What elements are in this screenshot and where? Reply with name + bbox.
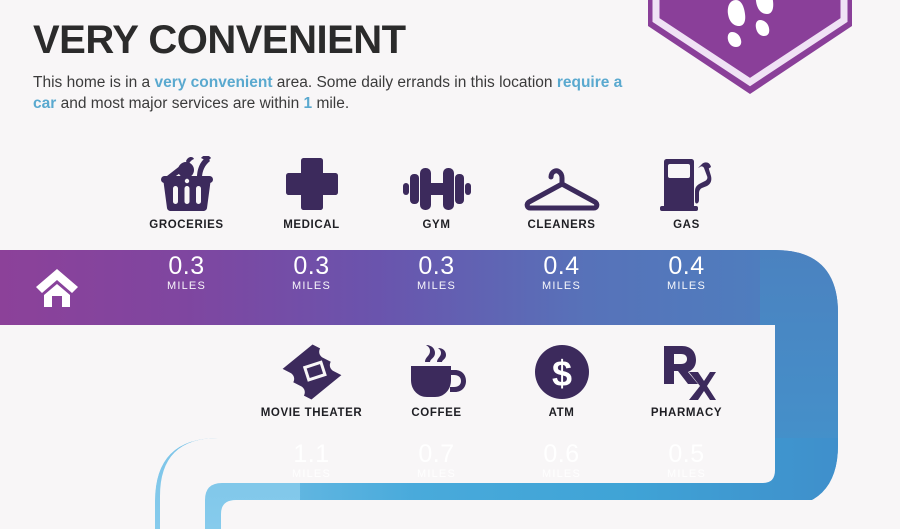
distance-movie-theater: 1.1 MILES: [249, 440, 374, 480]
distance-value: 0.3: [374, 252, 499, 281]
subtitle-seg-6: mile.: [312, 95, 349, 112]
distance-value: 0.3: [249, 252, 374, 281]
movie-ticket-icon: [249, 344, 374, 400]
groceries-basket-icon: [124, 156, 249, 212]
category-label: COFFEE: [374, 407, 499, 419]
distance-medical: 0.3 MILES: [249, 252, 374, 292]
category-cleaners[interactable]: CLEANERS: [499, 156, 624, 231]
distance-value: 0.7: [374, 440, 499, 469]
subtitle-seg-2: area. Some daily errands in this locatio…: [273, 74, 557, 91]
distance-value: 0.5: [624, 440, 749, 469]
distance-coffee: 0.7 MILES: [374, 440, 499, 480]
category-label: CLEANERS: [499, 219, 624, 231]
distance-atm: 0.6 MILES: [499, 440, 624, 480]
pharmacy-rx-icon: [624, 344, 749, 400]
distance-unit: MILES: [374, 280, 499, 292]
distance-unit: MILES: [624, 468, 749, 480]
category-gas[interactable]: GAS: [624, 156, 749, 231]
category-gym[interactable]: GYM: [374, 156, 499, 231]
distance-pharmacy: 0.5 MILES: [624, 440, 749, 480]
category-label: GROCERIES: [124, 219, 249, 231]
coffee-cup-icon: [374, 344, 499, 400]
distance-value: 1.1: [249, 440, 374, 469]
distance-unit: MILES: [249, 280, 374, 292]
cleaners-hanger-icon: [499, 156, 624, 212]
category-pharmacy[interactable]: PHARMACY: [624, 344, 749, 419]
medical-cross-icon: [249, 156, 374, 212]
distance-groceries: 0.3 MILES: [124, 252, 249, 292]
category-label: MOVIE THEATER: [249, 407, 374, 419]
distance-gas: 0.4 MILES: [624, 252, 749, 292]
category-label: GAS: [624, 219, 749, 231]
distance-unit: MILES: [249, 468, 374, 480]
category-coffee[interactable]: COFFEE: [374, 344, 499, 419]
category-movie-theater[interactable]: MOVIE THEATER: [249, 344, 374, 419]
svg-text:$: $: [551, 353, 571, 394]
distance-cleaners: 0.4 MILES: [499, 252, 624, 292]
distance-value: 0.6: [499, 440, 624, 469]
distance-unit: MILES: [624, 280, 749, 292]
infographic-canvas: VERY CONVENIENT This home is in a very c…: [0, 0, 900, 529]
distance-gym: 0.3 MILES: [374, 252, 499, 292]
page-subtitle: This home is in a very convenient area. …: [33, 72, 633, 114]
category-label: MEDICAL: [249, 219, 374, 231]
category-label: ATM: [499, 407, 624, 419]
page-title: VERY CONVENIENT: [33, 18, 673, 62]
category-label: PHARMACY: [624, 407, 749, 419]
distance-value: 0.4: [499, 252, 624, 281]
subtitle-accent-very-convenient: very convenient: [154, 74, 272, 91]
distance-unit: MILES: [499, 280, 624, 292]
category-medical[interactable]: MEDICAL: [249, 156, 374, 231]
subtitle-seg-4: and most major services are within: [56, 95, 303, 112]
subtitle-seg-0: This home is in a: [33, 74, 154, 91]
distance-value: 0.3: [124, 252, 249, 281]
category-label: GYM: [374, 219, 499, 231]
distance-unit: MILES: [499, 468, 624, 480]
category-atm[interactable]: $ ATM: [499, 344, 624, 419]
header: VERY CONVENIENT This home is in a very c…: [33, 18, 673, 114]
category-groceries[interactable]: GROCERIES: [124, 156, 249, 231]
gas-pump-icon: [624, 156, 749, 212]
home-icon: [24, 262, 90, 314]
walk-score-badge: [640, 0, 860, 100]
atm-dollar-icon: $: [499, 344, 624, 400]
distance-value: 0.4: [624, 252, 749, 281]
distance-unit: MILES: [124, 280, 249, 292]
distance-unit: MILES: [374, 468, 499, 480]
subtitle-accent-miles: 1: [304, 95, 313, 112]
gym-dumbbell-icon: [374, 156, 499, 212]
